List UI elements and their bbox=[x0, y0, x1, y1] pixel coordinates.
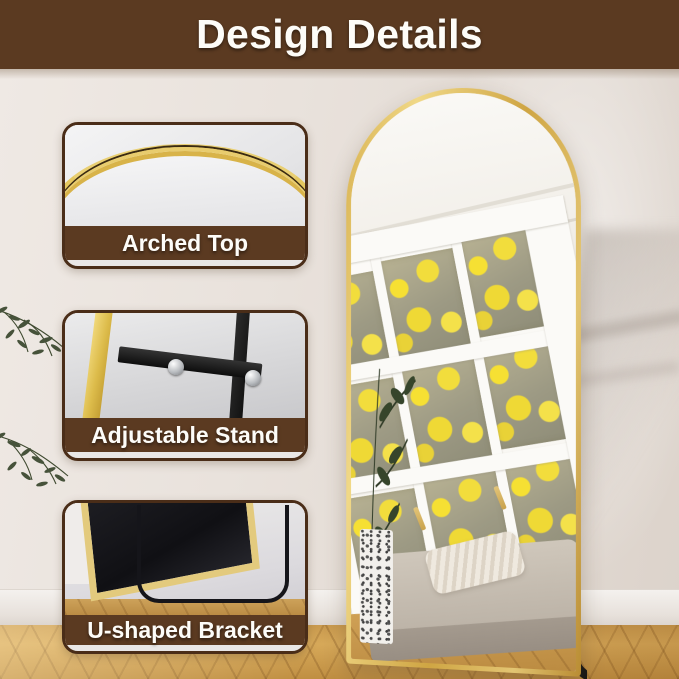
feature-card-adjustable-stand[interactable]: Adjustable Stand bbox=[62, 310, 308, 461]
page-title: Design Details bbox=[196, 14, 483, 55]
feature-card-label: Adjustable Stand bbox=[65, 418, 305, 452]
reflected-terrazzo-planter bbox=[360, 529, 393, 644]
arch-closeup-background bbox=[65, 125, 305, 226]
feature-card-u-shaped-bracket[interactable]: U-shaped Bracket bbox=[62, 500, 308, 654]
arch-glass-surface bbox=[65, 147, 305, 226]
mirror-frame bbox=[346, 87, 581, 677]
bracket-scene-wall bbox=[65, 503, 89, 584]
feature-card-photo bbox=[65, 503, 305, 615]
floor-mirror bbox=[330, 79, 630, 679]
bracket-scene-floor bbox=[65, 599, 305, 615]
product-detail-image: Design Details bbox=[0, 0, 679, 679]
feature-card-label: U-shaped Bracket bbox=[65, 615, 305, 645]
stand-bolt bbox=[245, 370, 261, 386]
feature-card-arched-top[interactable]: Arched Top bbox=[62, 122, 308, 269]
header-banner: Design Details bbox=[0, 0, 679, 69]
feature-card-label: Arched Top bbox=[65, 226, 305, 260]
stand-bolt bbox=[168, 359, 184, 375]
bracket-closeup-background bbox=[65, 503, 305, 615]
feature-card-photo bbox=[65, 313, 305, 418]
gold-frame-edge bbox=[82, 313, 113, 418]
header-shadow bbox=[0, 69, 679, 79]
u-shaped-bracket bbox=[137, 505, 289, 603]
arch-gold-frame bbox=[65, 144, 305, 226]
mirror-glass-reflection bbox=[351, 92, 576, 672]
mirror-back-panel bbox=[80, 503, 260, 601]
stand-vertical-post bbox=[229, 313, 251, 418]
feature-card-photo bbox=[65, 125, 305, 226]
stand-closeup-background bbox=[65, 313, 305, 418]
stand-adjustment-arm bbox=[117, 346, 262, 379]
